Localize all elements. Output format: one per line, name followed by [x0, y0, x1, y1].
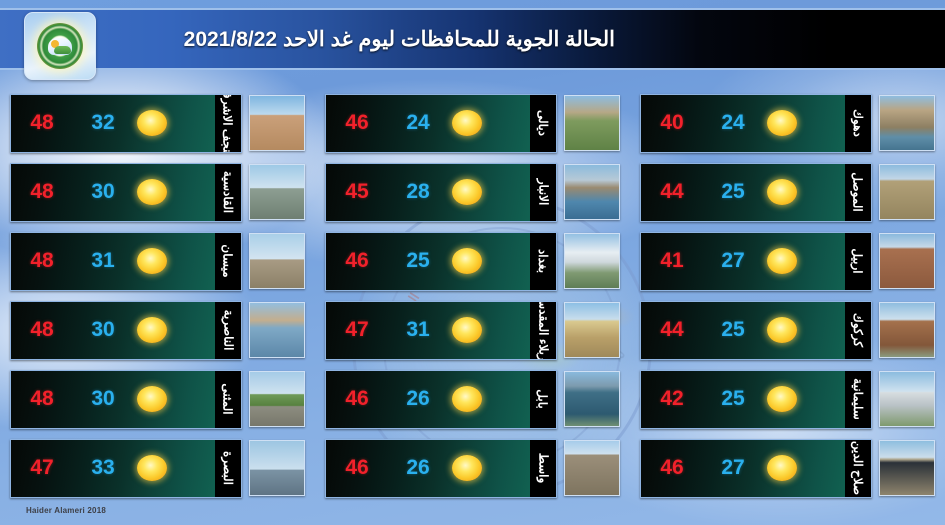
qadisiyah-monument-photo [249, 164, 305, 220]
province-name: واسط [537, 453, 549, 484]
seal-ring [37, 23, 83, 69]
max-temp: 44 [641, 180, 703, 204]
province-row: 4831ميسان [10, 230, 305, 292]
max-temp: 46 [326, 111, 388, 135]
credit-text: Haider Alameri 2018 [26, 506, 106, 515]
province-label-strip: بابل [530, 371, 556, 428]
province-name: الموصل [852, 172, 864, 211]
province-row: 4733البصرة [10, 437, 305, 499]
max-temp: 48 [11, 318, 73, 342]
province-name: اربيل [852, 248, 864, 273]
province-name: بغداد [537, 249, 549, 273]
province-label-strip: كركوك [845, 302, 871, 359]
condition-cell [763, 110, 845, 136]
forecast-card[interactable]: 4830الناصرية [10, 301, 242, 360]
province-row: 4225سليمانية [640, 368, 935, 430]
forecast-card[interactable]: 4830المثنى [10, 370, 242, 429]
forecast-card[interactable]: 4831ميسان [10, 232, 242, 291]
max-temp: 42 [641, 387, 703, 411]
province-label-strip: ديالى [530, 95, 556, 152]
basra-statue-photo [249, 440, 305, 496]
min-temp: 30 [73, 180, 133, 204]
sun-icon [452, 455, 482, 481]
min-temp: 31 [73, 249, 133, 273]
najaf-shrine-photo [249, 95, 305, 151]
salahuddin-statue-photo [879, 440, 935, 496]
condition-cell [133, 179, 215, 205]
mosul-ruins-photo [879, 164, 935, 220]
province-name: دهوك [852, 109, 864, 137]
anbar-lake-photo [564, 164, 620, 220]
min-temp: 32 [73, 111, 133, 135]
province-name: كربلاء المقدسة [537, 301, 549, 360]
weather-infographic: الهيئة العامة WEATHER الحالة الجوية للمح… [0, 0, 945, 525]
forecast-card[interactable]: 4528الانبار [325, 163, 557, 222]
max-temp: 48 [11, 111, 73, 135]
province-row: 4830القادسية [10, 161, 305, 223]
max-temp: 41 [641, 249, 703, 273]
forecast-card[interactable]: 4425كركوك [640, 301, 872, 360]
condition-cell [448, 179, 530, 205]
condition-cell [133, 455, 215, 481]
forecast-card[interactable]: 4627صلاح الدين [640, 439, 872, 498]
condition-cell [448, 248, 530, 274]
province-name: كركوك [852, 313, 864, 347]
province-name: صلاح الدين [852, 441, 864, 495]
province-row: 4830الناصرية [10, 299, 305, 361]
min-temp: 30 [73, 318, 133, 342]
province-label-strip: الانبار [530, 164, 556, 221]
condition-cell [133, 386, 215, 412]
province-row: 4627صلاح الدين [640, 437, 935, 499]
min-temp: 31 [388, 318, 448, 342]
min-temp: 25 [703, 180, 763, 204]
province-grid: 4832النجف الاشرف4830القادسية4831ميسان483… [0, 92, 945, 512]
province-name: بابل [537, 389, 549, 408]
sun-icon [767, 455, 797, 481]
maysan-monument-photo [249, 233, 305, 289]
condition-cell [763, 317, 845, 343]
forecast-card[interactable]: 4626بابل [325, 370, 557, 429]
wasit-arch-photo [564, 440, 620, 496]
province-name: النجف الاشرف [222, 94, 234, 153]
province-label-strip: دهوك [845, 95, 871, 152]
forecast-card[interactable]: 4225سليمانية [640, 370, 872, 429]
province-label-strip: واسط [530, 440, 556, 497]
sun-icon [452, 248, 482, 274]
sun-icon [452, 110, 482, 136]
sun-icon [452, 317, 482, 343]
sun-icon [767, 248, 797, 274]
nasiriyah-river-photo [249, 302, 305, 358]
condition-cell [763, 179, 845, 205]
karbala-shrine-photo [564, 302, 620, 358]
max-temp: 46 [326, 456, 388, 480]
condition-cell [448, 110, 530, 136]
max-temp: 45 [326, 180, 388, 204]
max-temp: 46 [326, 249, 388, 273]
max-temp: 44 [641, 318, 703, 342]
condition-cell [763, 386, 845, 412]
max-temp: 48 [11, 249, 73, 273]
condition-cell [763, 455, 845, 481]
sun-icon [137, 386, 167, 412]
sun-icon [767, 386, 797, 412]
max-temp: 48 [11, 180, 73, 204]
sun-icon [767, 110, 797, 136]
province-label-strip: القادسية [215, 164, 241, 221]
min-temp: 26 [388, 387, 448, 411]
condition-cell [133, 248, 215, 274]
province-label-strip: صلاح الدين [845, 440, 871, 497]
forecast-card[interactable]: 4832النجف الاشرف [10, 94, 242, 153]
min-temp: 27 [703, 456, 763, 480]
province-label-strip: الموصل [845, 164, 871, 221]
province-label-strip: بغداد [530, 233, 556, 290]
forecast-card[interactable]: 4127اربيل [640, 232, 872, 291]
column-south-central: 4832النجف الاشرف4830القادسية4831ميسان483… [0, 92, 315, 512]
forecast-card[interactable]: 4731كربلاء المقدسة [325, 301, 557, 360]
province-row: 4624ديالى [325, 92, 620, 154]
max-temp: 46 [326, 387, 388, 411]
min-temp: 33 [73, 456, 133, 480]
province-name: سليمانية [852, 378, 864, 420]
province-row: 4024دهوك [640, 92, 935, 154]
province-label-strip: اربيل [845, 233, 871, 290]
sun-icon [452, 386, 482, 412]
header-banner: الحالة الجوية للمحافظات ليوم غد الاحد 20… [0, 8, 945, 70]
condition-cell [763, 248, 845, 274]
min-temp: 27 [703, 249, 763, 273]
min-temp: 24 [703, 111, 763, 135]
forecast-card[interactable]: 4624ديالى [325, 94, 557, 153]
province-row: 4626بابل [325, 368, 620, 430]
diyala-park-photo [564, 95, 620, 151]
province-name: ديالى [537, 110, 549, 136]
province-label-strip: البصرة [215, 440, 241, 497]
max-temp: 40 [641, 111, 703, 135]
sun-icon [137, 317, 167, 343]
min-temp: 25 [703, 387, 763, 411]
sun-icon [137, 455, 167, 481]
province-name: البصرة [222, 451, 234, 485]
condition-cell [133, 317, 215, 343]
kirkuk-citadel-photo [879, 302, 935, 358]
province-row: 4425كركوك [640, 299, 935, 361]
sulaymaniyah-monument-photo [879, 371, 935, 427]
sun-icon [137, 248, 167, 274]
province-label-strip: المثنى [215, 371, 241, 428]
condition-cell [448, 455, 530, 481]
column-north: 4024دهوك4425الموصل4127اربيل4425كركوك4225… [630, 92, 945, 512]
max-temp: 46 [641, 456, 703, 480]
max-temp: 47 [11, 456, 73, 480]
province-label-strip: الناصرية [215, 302, 241, 359]
sun-icon [137, 110, 167, 136]
sun-icon [767, 317, 797, 343]
forecast-card[interactable]: 4733البصرة [10, 439, 242, 498]
province-name: القادسية [222, 171, 234, 213]
max-temp: 48 [11, 387, 73, 411]
max-temp: 47 [326, 318, 388, 342]
sun-cloud-emblem-icon [48, 38, 72, 55]
min-temp: 25 [388, 249, 448, 273]
province-name: المثنى [222, 383, 234, 414]
muthanna-arch-photo [249, 371, 305, 427]
condition-cell [448, 386, 530, 412]
babil-buildings-photo [564, 371, 620, 427]
forecast-card[interactable]: 4024دهوك [640, 94, 872, 153]
min-temp: 28 [388, 180, 448, 204]
forecast-card[interactable]: 4626واسط [325, 439, 557, 498]
sun-icon [767, 179, 797, 205]
province-name: ميسان [222, 244, 234, 277]
province-row: 4832النجف الاشرف [10, 92, 305, 154]
province-label-strip: سليمانية [845, 371, 871, 428]
forecast-card[interactable]: 4425الموصل [640, 163, 872, 222]
sun-icon [137, 179, 167, 205]
baghdad-monument-photo [564, 233, 620, 289]
province-label-strip: كربلاء المقدسة [530, 302, 556, 359]
province-row: 4830المثنى [10, 368, 305, 430]
erbil-citadel-photo [879, 233, 935, 289]
min-temp: 30 [73, 387, 133, 411]
condition-cell [133, 110, 215, 136]
forecast-card[interactable]: 4625بغداد [325, 232, 557, 291]
duhok-landscape-photo [879, 95, 935, 151]
province-name: الناصرية [222, 310, 234, 351]
column-central: 4624ديالى4528الانبار4625بغداد4731كربلاء … [315, 92, 630, 512]
province-row: 4127اربيل [640, 230, 935, 292]
province-label-strip: النجف الاشرف [215, 95, 241, 152]
province-row: 4625بغداد [325, 230, 620, 292]
forecast-card[interactable]: 4830القادسية [10, 163, 242, 222]
province-label-strip: ميسان [215, 233, 241, 290]
min-temp: 24 [388, 111, 448, 135]
min-temp: 26 [388, 456, 448, 480]
province-name: الانبار [537, 179, 549, 206]
province-row: 4731كربلاء المقدسة [325, 299, 620, 361]
province-row: 4626واسط [325, 437, 620, 499]
province-row: 4528الانبار [325, 161, 620, 223]
sun-icon [452, 179, 482, 205]
min-temp: 25 [703, 318, 763, 342]
province-row: 4425الموصل [640, 161, 935, 223]
weather-authority-seal-icon [24, 12, 96, 80]
condition-cell [448, 317, 530, 343]
page-title: الحالة الجوية للمحافظات ليوم غد الاحد 20… [184, 27, 615, 52]
